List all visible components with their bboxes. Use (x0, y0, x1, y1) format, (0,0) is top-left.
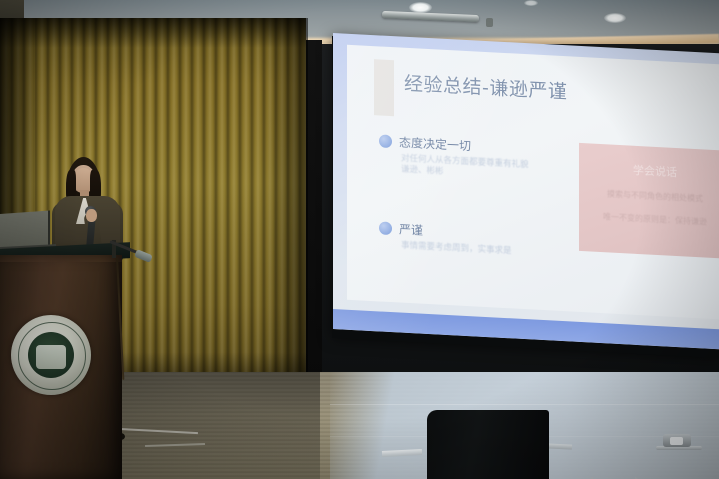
title-accent-bar (374, 59, 394, 116)
presenter-hand (86, 209, 97, 222)
emblem-crest-detail (36, 345, 66, 369)
slide-callout-box: 学会说话 摸索与不同角色的相处模式 唯一不变的原则是：保持谦逊 (579, 143, 719, 259)
slide-content-area: 经验总结-谦逊严谨 态度决定一切 对任何人从各方面都要尊重有礼貌 谦逊、彬彬 严… (347, 45, 719, 320)
downlight-icon (524, 0, 538, 6)
slide-bullet-1: 态度决定一切 (379, 132, 471, 154)
stage-monitor-speaker (427, 410, 549, 479)
callout-line: 唯一不变的原则是：保持谦逊 (579, 210, 719, 229)
projection-screen: 经验总结-谦逊严谨 态度决定一切 对任何人从各方面都要尊重有礼貌 谦逊、彬彬 严… (333, 33, 719, 349)
slide-bullet-2: 严谨 (379, 219, 423, 238)
presentation-scene: 经验总结-谦逊严谨 态度决定一切 对任何人从各方面都要尊重有礼貌 谦逊、彬彬 严… (0, 0, 719, 479)
curtain-right-shadow (266, 18, 308, 386)
ceiling-fixture (486, 18, 493, 27)
slide-title: 经验总结-谦逊严谨 (404, 69, 567, 105)
bullet-label: 态度决定一切 (399, 133, 471, 154)
bullet-label: 严谨 (399, 220, 423, 238)
stage-equipment-panel (670, 437, 683, 445)
curtain-top-shadow (0, 18, 306, 48)
bullet-subtext: 对任何人从各方面都要尊重有礼貌 谦逊、彬彬 (401, 154, 551, 184)
bullet-dot-icon (379, 221, 392, 235)
bullet-subtext: 事情需要考虑周到，实事求是 (401, 241, 561, 260)
floor-seam (330, 404, 719, 405)
bullet-dot-icon (379, 134, 392, 148)
downlight-icon (604, 13, 626, 23)
callout-title: 学会说话 (579, 159, 719, 183)
callout-line: 摸索与不同角色的相处模式 (579, 187, 719, 206)
